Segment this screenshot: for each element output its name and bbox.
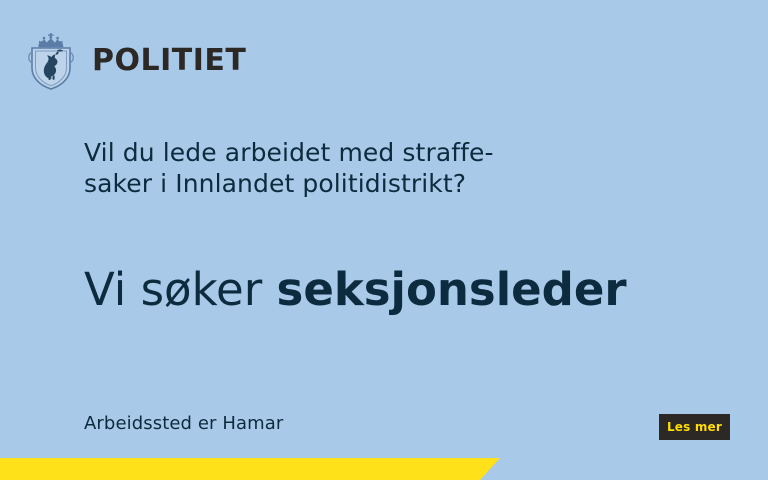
- politiet-wordmark: POLITIET: [92, 46, 246, 76]
- les-mer-button[interactable]: Les mer: [659, 414, 730, 440]
- headline: Vi søker seksjonsleder: [84, 266, 627, 313]
- recruitment-banner: POLITIET Vil du lede arbeidet med straff…: [0, 0, 768, 480]
- workplace-location: Arbeidssted er Hamar: [84, 413, 283, 434]
- kicker-line-1: Vil du lede arbeidet med straffe-: [84, 138, 604, 169]
- norwegian-coat-of-arms-icon: [24, 32, 78, 90]
- politiet-logo: POLITIET: [24, 32, 246, 90]
- kicker-line-2: saker i Innlandet politidistrikt?: [84, 169, 604, 200]
- yellow-accent-bar: [0, 458, 500, 480]
- les-mer-button-label: Les mer: [667, 421, 722, 433]
- headline-bold-part: seksjonsleder: [277, 263, 627, 316]
- headline-light-part: Vi søker: [84, 263, 277, 316]
- kicker-text: Vil du lede arbeidet med straffe- saker …: [84, 138, 604, 199]
